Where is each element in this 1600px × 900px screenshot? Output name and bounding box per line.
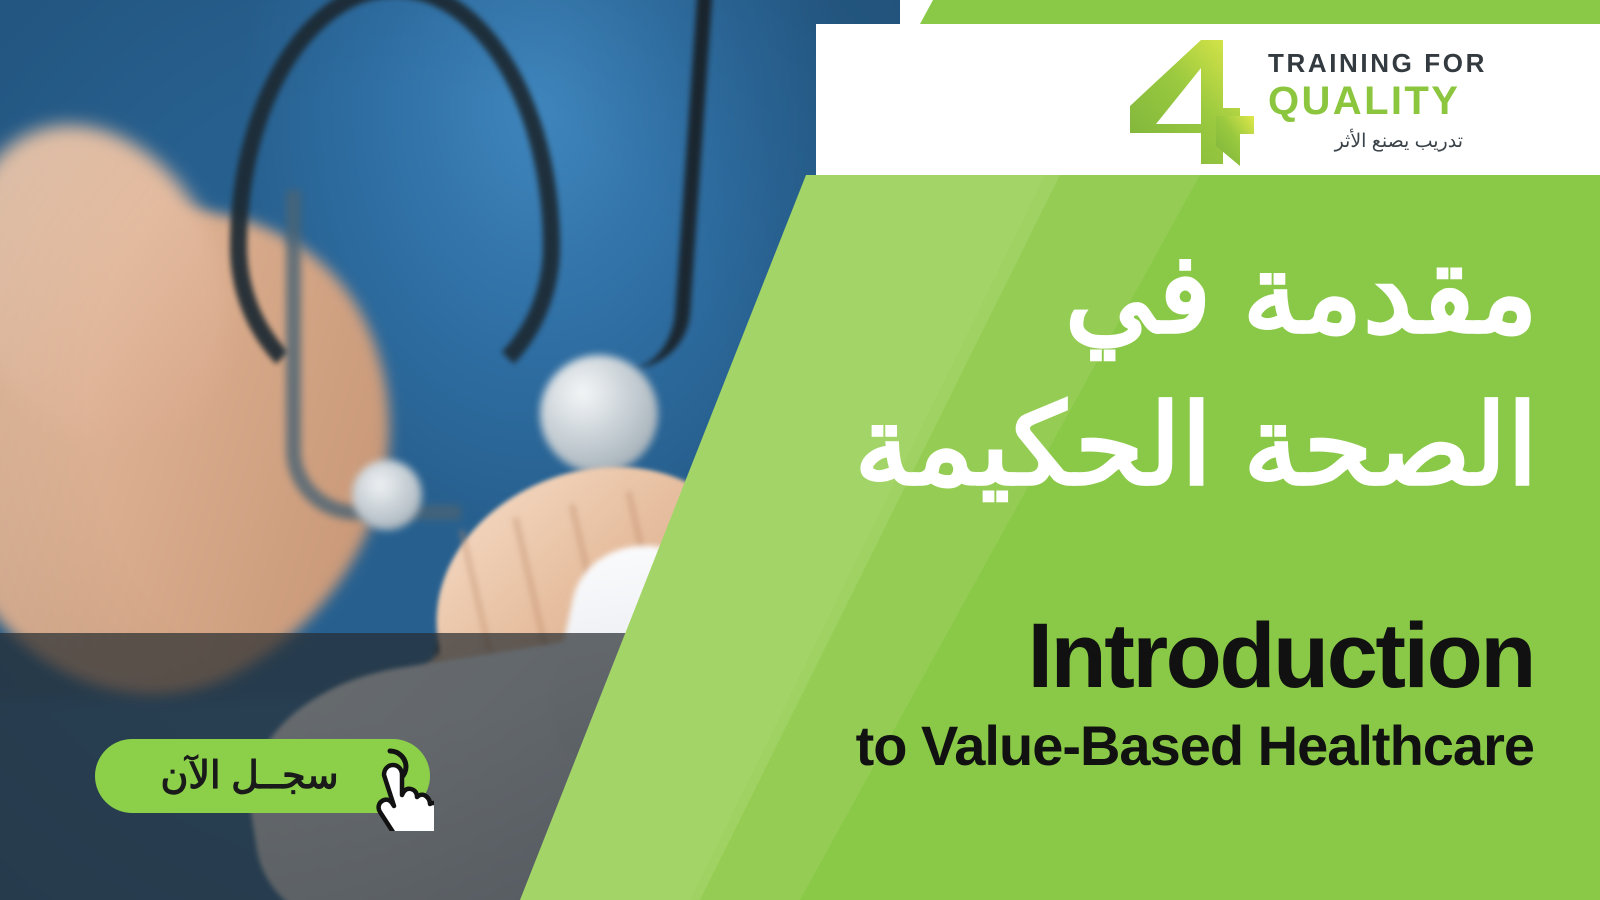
arabic-course-title: مقدمة في الصحة الحكيمة	[658, 218, 1538, 523]
course-promo-banner: TRAINING FOR QUALITY تدريب يصنع الأثر مق…	[0, 0, 1600, 900]
register-now-button[interactable]: سجــل الآن	[95, 739, 430, 813]
english-title-line2: to Value-Based Healthcare	[584, 718, 1534, 774]
arabic-title-line1: مقدمة في	[658, 218, 1538, 370]
english-title-line1: Introduction	[634, 610, 1534, 702]
brand-logo[interactable]: TRAINING FOR QUALITY تدريب يصنع الأثر	[1128, 30, 1458, 170]
logo-line1: TRAINING FOR	[1268, 50, 1463, 76]
logo-wordmark: TRAINING FOR QUALITY تدريب يصنع الأثر	[1268, 50, 1463, 151]
logo-tagline: تدريب يصنع الأثر	[1268, 132, 1463, 151]
arabic-title-line2: الصحة الحكيمة	[658, 370, 1538, 522]
register-now-label: سجــل الآن	[160, 757, 364, 795]
logo-line2: QUALITY	[1268, 80, 1463, 123]
4-upward-arrow-mark	[1128, 38, 1254, 166]
